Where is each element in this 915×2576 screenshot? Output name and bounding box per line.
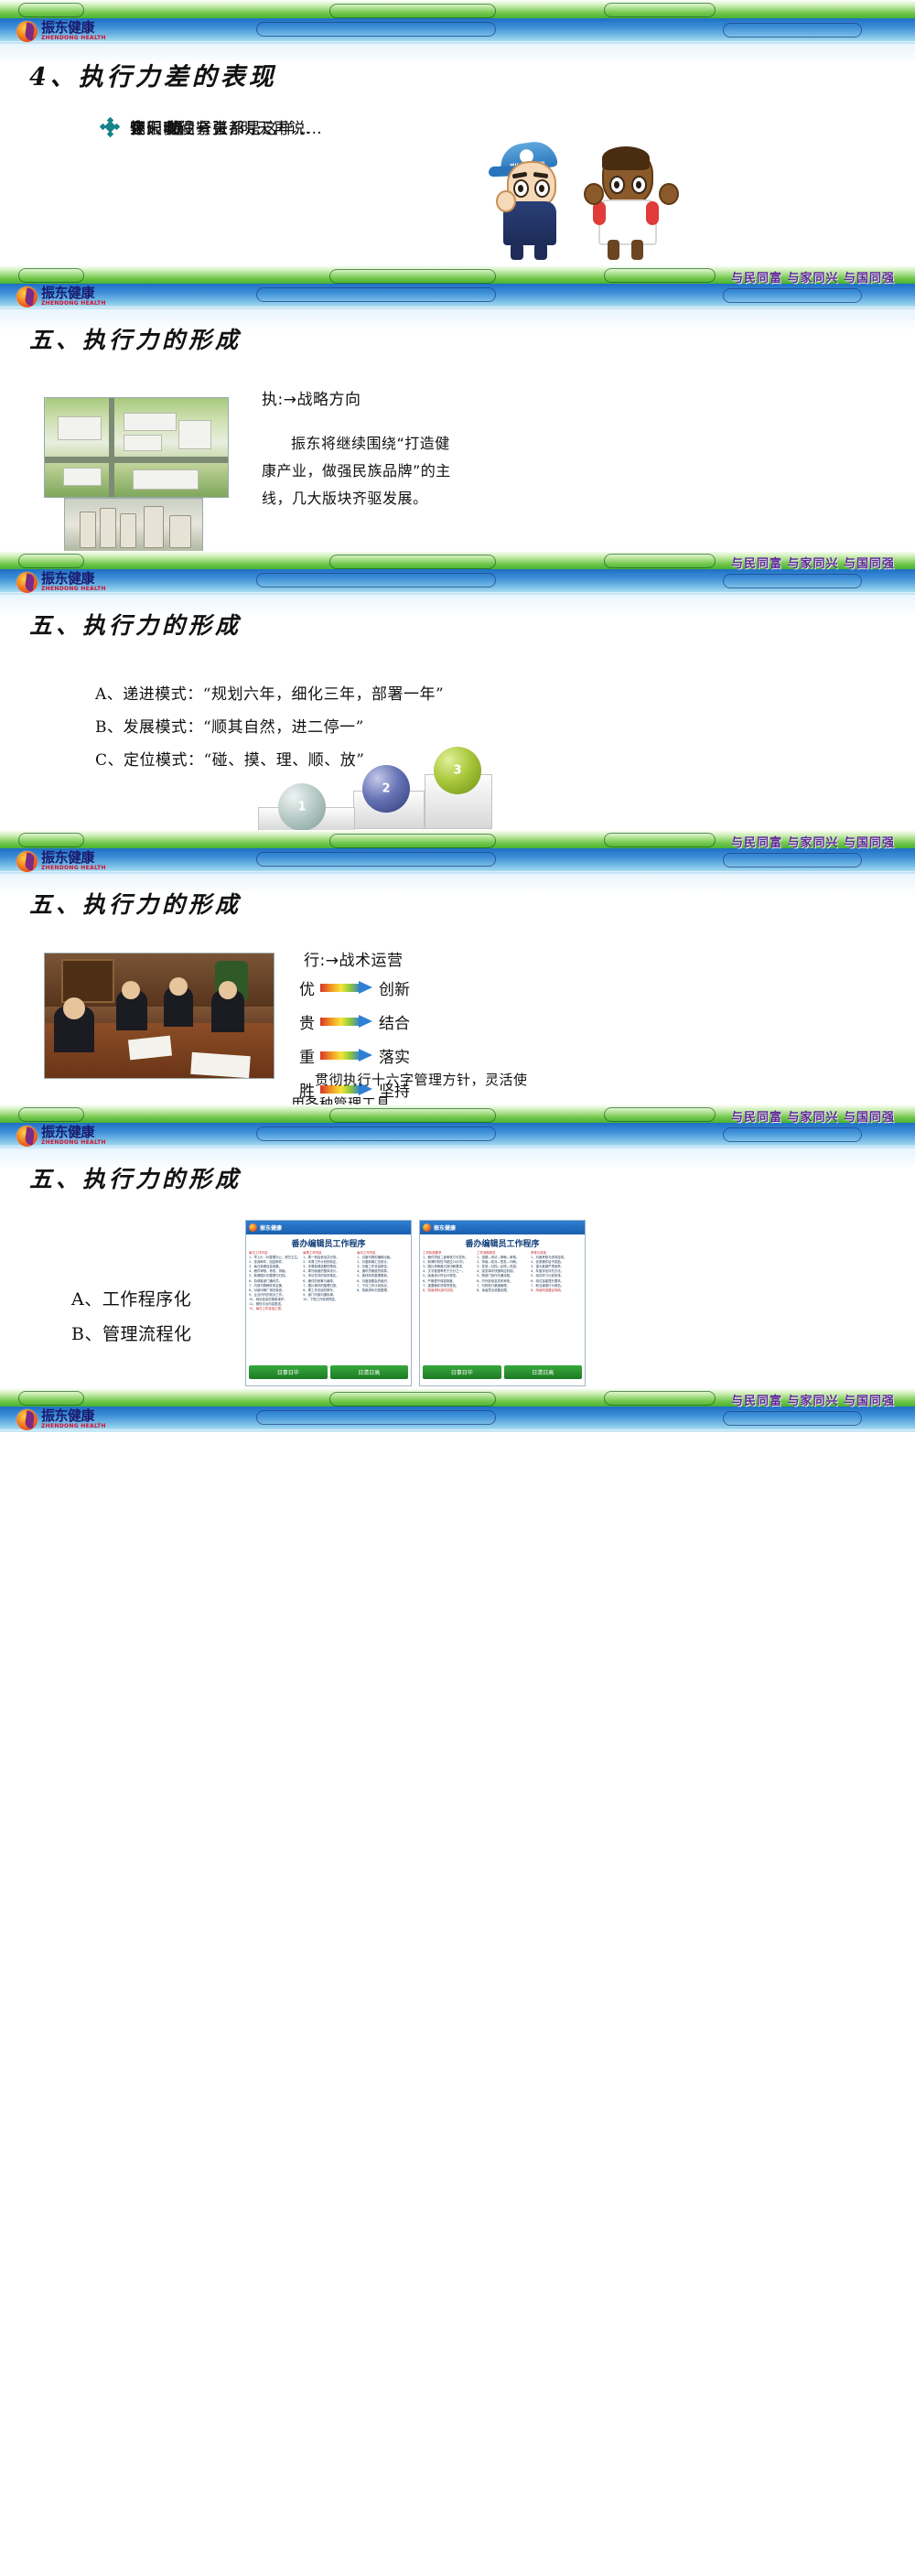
- brand-logo: 振东健康 ZHENDONG HEALTH: [16, 286, 106, 307]
- banner-swirl: [604, 3, 716, 17]
- figure-hand: [584, 183, 604, 205]
- slide-6-banner: 振东健康 ZHENDONG HEALTH 与民同富 与家同兴 与国同强: [0, 1388, 915, 1432]
- figure-sleeve: [646, 201, 659, 225]
- paragraph-line: 贯彻执行十六字管理方针，灵活使: [291, 1068, 556, 1092]
- podium-ball-label: 3: [434, 764, 481, 778]
- paragraph-line: 用各种管理工具。: [291, 1092, 556, 1105]
- podium-ball-1: 1: [278, 783, 326, 830]
- banner-swirl: [723, 288, 862, 303]
- slide-4-title: 五、执行力的形成: [29, 887, 242, 920]
- figure-hand: [659, 183, 679, 205]
- slide-3-title: 五、执行力的形成: [29, 608, 242, 641]
- figure-hair: [602, 146, 650, 170]
- figure-leg: [534, 243, 547, 260]
- boardroom-meeting-photo: [44, 953, 274, 1079]
- poster-columns: 每日工作内容 1、早上8：30整理办公、清扫卫生。 2、查阅邮件、回复邮件。 3…: [246, 1251, 411, 1365]
- banner-swirl: [256, 1410, 496, 1425]
- procedure-poster-1: 振东健康 番办编辑员工作程序 每日工作内容 1、早上8：30整理办公、清扫卫生。…: [245, 1220, 412, 1386]
- brand-slogan: 与民同富 与家同兴 与国同强: [731, 1107, 895, 1125]
- poster-column: 考核与奖惩 1、月度考核与绩效挂钩。 2、优质稿件给予奖励。 3、重大差错严肃追…: [531, 1251, 582, 1363]
- presentation-page: 振东健康 ZHENDONG HEALTH 4、执行力差的表现 这跟我没有关系………: [0, 0, 915, 2576]
- paragraph-line: 振东将继续围绕“打造健: [262, 430, 490, 458]
- poster-title: 番办编辑员工作程序: [246, 1234, 411, 1251]
- aerial-campus-photo: [44, 397, 229, 498]
- figure-hand: [496, 190, 516, 212]
- photo-detail: [122, 981, 140, 999]
- photo-detail: [45, 457, 228, 463]
- photo-detail: [169, 977, 188, 996]
- poster-footer: 日事日毕 日清日高: [246, 1365, 411, 1382]
- pair-left-char: 贵: [291, 1010, 315, 1033]
- photo-detail: [124, 435, 162, 451]
- poster-brand: 振东健康: [434, 1223, 456, 1232]
- slide-2-banner: 振东健康 ZHENDONG HEALTH 与民同富 与家同兴 与国同强: [0, 265, 915, 309]
- figure-leg: [511, 243, 523, 260]
- photo-detail: [109, 398, 114, 497]
- slide-5-banner: 振东健康 ZHENDONG HEALTH 与民同富 与家同兴 与国同强: [0, 1105, 915, 1148]
- slide-1-banner: 振东健康 ZHENDONG HEALTH: [0, 0, 915, 44]
- pair-row: 重 落实: [291, 1044, 410, 1067]
- logo-mark-icon: [16, 1409, 38, 1430]
- slide-6-partial: 振东健康 ZHENDONG HEALTH 与民同富 与家同兴 与国同强: [0, 1388, 915, 2576]
- industrial-plant-photo: [64, 498, 203, 551]
- poster-footer-item: 日事日毕: [423, 1365, 501, 1379]
- diamond-bullet-icon: [102, 120, 117, 135]
- procedure-poster-2: 振东健康 番办编辑员工作程序 工作标准要求 1、稿件须经二级审核方可发布。 2、…: [419, 1220, 586, 1386]
- slide-4-paragraph: 贯彻执行十六字管理方针，灵活使 用各种管理工具。: [291, 1068, 556, 1105]
- banner-swirl: [604, 268, 716, 283]
- slide-1-body: 4、执行力差的表现 这跟我没有关系…… 今天时间紧张, 明天再说… 我们以往一直…: [0, 44, 915, 265]
- logo-mark-icon: [16, 851, 38, 872]
- poster-logo-icon: [423, 1223, 431, 1232]
- slide-5-item: A、工作程序化: [71, 1286, 191, 1313]
- photo-detail: [80, 512, 96, 548]
- banner-swirl: [256, 1126, 496, 1141]
- slide-3-item: A、递进模式：“规划六年，细化三年，部署一年”: [95, 681, 444, 708]
- banner-swirl: [723, 1411, 862, 1426]
- logo-english-name: ZHENDONG HEALTH: [41, 587, 106, 592]
- pair-right-text: 结合: [379, 1010, 410, 1033]
- cartoon-illustration: MILD SEVEN: [494, 143, 723, 262]
- poster-column: 每月工作内容 1、月度刊物的编辑出版。 2、月度新闻汇总统计。 3、月度工作总结…: [357, 1251, 408, 1363]
- brand-logo: 振东健康 ZHENDONG HEALTH: [16, 1408, 106, 1430]
- slide-4: 振东健康 ZHENDONG HEALTH 与民同富 与家同兴 与国同强 五、执行…: [0, 830, 915, 1105]
- banner-swirl: [723, 574, 862, 588]
- photo-detail: [61, 959, 114, 1003]
- podium-ball-label: 1: [278, 801, 326, 814]
- brand-slogan: 与民同富 与家同兴 与国同强: [731, 554, 895, 571]
- pair-left-char: 重: [291, 1044, 315, 1067]
- banner-swirl: [18, 1391, 84, 1406]
- poster-line: 8、持续改进建议采纳。: [531, 1288, 582, 1293]
- pair-right-text: 落实: [379, 1044, 410, 1067]
- photo-detail: [219, 981, 237, 999]
- banner-swirl: [723, 1127, 862, 1142]
- logo-mark-icon: [16, 572, 38, 593]
- poster-line: 10、下周工作安排预告。: [303, 1298, 354, 1302]
- banner-swirl: [18, 268, 84, 283]
- slide-5-body: 五、执行力的形成 A、工作程序化 B、管理流程化 振东健康 番办编辑员工作程序 …: [0, 1148, 915, 1388]
- slide-2-paragraph: 振东将继续围绕“打造健 康产业，做强民族品牌”的主 线，几大版块齐驱发展。: [262, 430, 490, 512]
- poster-line: 8、档案资料归档整理。: [357, 1288, 408, 1293]
- slide-5-title: 五、执行力的形成: [29, 1161, 242, 1194]
- banner-swirl: [329, 1108, 496, 1123]
- slide-4-heading: 行:→战术运营: [304, 947, 403, 975]
- podium-graphic: 3 2 1: [245, 760, 520, 829]
- banner-swirl: [604, 554, 716, 568]
- logo-mark-icon: [16, 21, 38, 42]
- slide-5-item: B、管理流程化: [71, 1320, 191, 1348]
- poster-logo-icon: [249, 1223, 257, 1232]
- photo-detail: [133, 469, 199, 490]
- poster-column: 工作标准要求 1、稿件须经二级审核方可发布。 2、新闻时效性不超过24小时。 3…: [423, 1251, 474, 1363]
- logo-chinese-name: 振东健康: [41, 1126, 106, 1139]
- slide-3-item: B、发展模式：“顺其自然，进二停一”: [95, 714, 364, 741]
- pair-left-char: 优: [291, 976, 315, 999]
- slide-2-title: 五、执行力的形成: [29, 322, 242, 355]
- brand-logo: 振东健康 ZHENDONG HEALTH: [16, 20, 106, 42]
- paragraph-line: 线，几大版块齐驱发展。: [262, 485, 490, 512]
- banner-swirl: [256, 573, 496, 587]
- poster-brand: 振东健康: [260, 1223, 282, 1232]
- banner-swirl: [329, 269, 496, 284]
- poster-header: 振东健康: [246, 1221, 411, 1234]
- photo-detail: [144, 506, 164, 548]
- slide-3-body: 五、执行力的形成 A、递进模式：“规划六年，细化三年，部署一年” B、发展模式：…: [0, 595, 915, 830]
- poster-header: 振东健康: [420, 1221, 585, 1234]
- list-item: 空 想: [102, 115, 190, 138]
- banner-swirl: [18, 833, 84, 847]
- logo-english-name: ZHENDONG HEALTH: [41, 1424, 106, 1429]
- brand-logo: 振东健康 ZHENDONG HEALTH: [16, 1125, 106, 1147]
- banner-swirl: [256, 852, 496, 867]
- slide-4-body: 五、执行力的形成 行:→战术运营 优: [0, 874, 915, 1105]
- poster-footer: 日事日毕 日清日高: [420, 1365, 585, 1382]
- banner-swirl: [18, 3, 84, 17]
- banner-swirl: [329, 555, 496, 569]
- paragraph-line: 康产业，做强民族品牌”的主: [262, 458, 490, 485]
- banner-swirl: [604, 833, 716, 847]
- podium-ball-2: 2: [362, 765, 410, 813]
- banner-swirl: [18, 1107, 84, 1122]
- poster-line: 12、每日工作总结汇报。: [249, 1307, 300, 1311]
- poster-footer-item: 日清日高: [330, 1365, 409, 1379]
- photo-detail: [63, 468, 102, 486]
- poster-line: 8、读者意见收集处理。: [477, 1288, 528, 1293]
- photo-detail: [120, 513, 136, 548]
- figure-eye: [513, 179, 529, 198]
- poster-column: 工作流程规范 1、选题—采访—撰稿—审核。 2、排版—校对—签发—印刷。 3、发…: [477, 1251, 528, 1363]
- logo-mark-icon: [16, 1126, 38, 1147]
- photo-detail: [124, 413, 177, 431]
- banner-swirl: [604, 1391, 716, 1406]
- banner-swirl: [723, 23, 862, 38]
- slide-5: 振东健康 ZHENDONG HEALTH 与民同富 与家同兴 与国同强 五、执行…: [0, 1105, 915, 1388]
- pair-row: 优 创新: [291, 976, 410, 999]
- poster-column: 每周工作内容 1、周一例会参加并记录。 2、本周工作计划的制定。 3、本周新闻选…: [303, 1251, 354, 1363]
- poster-title: 番办编辑员工作程序: [420, 1234, 585, 1251]
- logo-chinese-name: 振东健康: [41, 1409, 106, 1423]
- photo-detail: [63, 997, 85, 1019]
- brand-slogan: 与民同富 与家同兴 与国同强: [731, 268, 895, 286]
- banner-swirl: [18, 554, 84, 568]
- logo-chinese-name: 振东健康: [41, 21, 106, 35]
- brand-slogan: 与民同富 与家同兴 与国同强: [731, 1391, 895, 1408]
- slide-2-heading: 执:→战略方向: [262, 386, 361, 414]
- pair-right-text: 创新: [379, 976, 410, 999]
- banner-swirl: [329, 1392, 496, 1407]
- brand-logo: 振东健康 ZHENDONG HEALTH: [16, 571, 106, 593]
- slide-3-banner: 振东健康 ZHENDONG HEALTH 与民同富 与家同兴 与国同强: [0, 551, 915, 595]
- logo-chinese-name: 振东健康: [41, 572, 106, 586]
- slide-1: 振东健康 ZHENDONG HEALTH 4、执行力差的表现 这跟我没有关系………: [0, 0, 915, 265]
- photo-detail: [178, 420, 211, 449]
- figure-eye: [631, 176, 647, 194]
- podium-ball-label: 2: [362, 782, 410, 796]
- slide-2: 振东健康 ZHENDONG HEALTH 与民同富 与家同兴 与国同强 五、执行…: [0, 265, 915, 551]
- gradient-arrow-icon: [320, 1016, 373, 1028]
- podium-ball-3: 3: [434, 747, 481, 794]
- slide-2-body: 五、执行力的形成 执:→战略方向: [0, 309, 915, 551]
- bullet-text: 空 想: [130, 115, 190, 138]
- logo-english-name: ZHENDONG HEALTH: [41, 1140, 106, 1146]
- banner-swirl: [329, 834, 496, 848]
- figure-leg: [608, 240, 619, 260]
- logo-english-name: ZHENDONG HEALTH: [41, 866, 106, 871]
- photo-detail: [169, 515, 191, 548]
- pair-row: 贵 结合: [291, 1010, 410, 1033]
- banner-swirl: [723, 853, 862, 868]
- poster-columns: 工作标准要求 1、稿件须经二级审核方可发布。 2、新闻时效性不超过24小时。 3…: [420, 1251, 585, 1365]
- logo-english-name: ZHENDONG HEALTH: [41, 36, 106, 41]
- photo-detail: [100, 508, 116, 548]
- poster-line: 8、档案资料及时归档。: [423, 1288, 474, 1293]
- logo-chinese-name: 振东健康: [41, 851, 106, 865]
- figure-eye: [534, 179, 550, 198]
- slide-1-title: 4、执行力差的表现: [29, 57, 277, 92]
- poster-column: 每日工作内容 1、早上8：30整理办公、清扫卫生。 2、查阅邮件、回复邮件。 3…: [249, 1251, 300, 1363]
- banner-swirl: [329, 4, 496, 18]
- banner-swirl: [256, 287, 496, 302]
- logo-chinese-name: 振东健康: [41, 286, 106, 300]
- banner-swirl: [256, 22, 496, 37]
- slide-3: 振东健康 ZHENDONG HEALTH 与民同富 与家同兴 与国同强 五、执行…: [0, 551, 915, 830]
- gradient-arrow-icon: [320, 1050, 373, 1062]
- brand-logo: 振东健康 ZHENDONG HEALTH: [16, 850, 106, 872]
- slide-4-banner: 振东健康 ZHENDONG HEALTH 与民同富 与家同兴 与国同强: [0, 830, 915, 874]
- gradient-arrow-icon: [320, 982, 373, 994]
- logo-mark-icon: [16, 286, 38, 307]
- figure-leg: [631, 240, 643, 260]
- photo-detail: [190, 1052, 251, 1078]
- brand-slogan: 与民同富 与家同兴 与国同强: [731, 833, 895, 850]
- figure-eye: [609, 176, 625, 194]
- poster-footer-item: 日清日高: [504, 1365, 583, 1379]
- photo-detail: [58, 416, 102, 440]
- poster-footer-item: 日事日毕: [249, 1365, 328, 1379]
- banner-swirl: [604, 1107, 716, 1122]
- logo-english-name: ZHENDONG HEALTH: [41, 301, 106, 307]
